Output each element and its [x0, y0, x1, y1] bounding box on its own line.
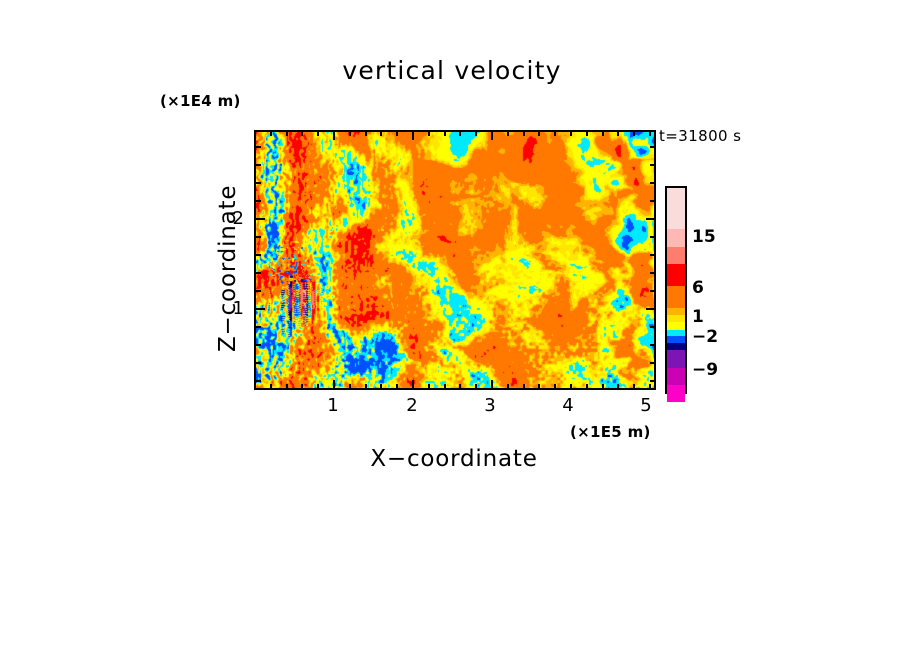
y-major-tick-right — [646, 218, 655, 220]
x-minor-tick — [523, 384, 525, 389]
colorbar — [665, 186, 687, 394]
x-minor-tick-top — [301, 131, 303, 136]
colorbar-band-4 — [667, 286, 685, 308]
x-minor-tick-top — [475, 131, 477, 136]
x-minor-tick — [554, 384, 556, 389]
x-minor-tick-top — [365, 131, 367, 136]
colorbar-band-2 — [667, 247, 685, 264]
x-minor-tick — [538, 384, 540, 389]
x-minor-tick — [633, 384, 635, 389]
x-minor-tick-top — [617, 131, 619, 136]
y-minor-tick — [256, 254, 261, 256]
y-minor-tick-right — [650, 272, 655, 274]
x-minor-tick-top — [270, 131, 272, 136]
y-minor-tick — [256, 164, 261, 166]
colorbar-label-2: 1 — [692, 307, 704, 327]
x-minor-tick — [444, 384, 446, 389]
colorbar-band-10 — [667, 343, 685, 350]
y-minor-tick-right — [650, 164, 655, 166]
x-minor-tick — [270, 384, 272, 389]
y-minor-tick-right — [650, 362, 655, 364]
y-minor-tick — [256, 272, 261, 274]
x-major-tick — [412, 380, 414, 389]
y-minor-tick-right — [650, 236, 655, 238]
colorbar-band-11 — [667, 350, 685, 368]
y-minor-tick-right — [650, 326, 655, 328]
x-minor-tick — [586, 384, 588, 389]
x-tick-label-0: 1 — [318, 395, 348, 416]
x-minor-tick — [570, 384, 572, 389]
contour-plot-area — [254, 130, 656, 390]
x-minor-tick-top — [633, 131, 635, 136]
x-minor-tick-top — [538, 131, 540, 136]
x-tick-label-1: 2 — [397, 395, 427, 416]
y-minor-tick — [256, 236, 261, 238]
y-minor-tick-right — [650, 200, 655, 202]
x-minor-tick — [317, 384, 319, 389]
y-axis-title: Z−coordinate — [215, 185, 241, 352]
x-minor-tick-top — [396, 131, 398, 136]
colorbar-label-4: −9 — [692, 360, 718, 380]
x-minor-tick-top — [428, 131, 430, 136]
y-major-tick — [256, 308, 265, 310]
x-minor-tick-top — [602, 131, 604, 136]
x-minor-tick — [649, 384, 651, 389]
x-minor-tick — [380, 384, 382, 389]
x-minor-tick — [365, 384, 367, 389]
x-major-tick-top — [333, 131, 335, 140]
colorbar-band-1 — [667, 229, 685, 247]
colorbar-band-9 — [667, 336, 685, 343]
x-minor-tick-top — [554, 131, 556, 136]
x-minor-tick-top — [317, 131, 319, 136]
y-minor-tick-right — [650, 344, 655, 346]
y-minor-tick — [256, 146, 261, 148]
y-minor-tick-right — [650, 182, 655, 184]
y-minor-tick — [256, 326, 261, 328]
colorbar-label-0: 15 — [692, 227, 716, 247]
x-axis-unit-label: (×1E5 m) — [570, 423, 651, 441]
y-minor-tick — [256, 290, 261, 292]
x-minor-tick-top — [586, 131, 588, 136]
colorbar-band-0 — [667, 188, 685, 229]
x-major-tick-top — [412, 131, 414, 140]
x-major-tick — [333, 380, 335, 389]
y-minor-tick-right — [650, 380, 655, 382]
x-minor-tick-top — [649, 131, 651, 136]
x-minor-tick-top — [380, 131, 382, 136]
x-minor-tick — [602, 384, 604, 389]
x-minor-tick — [507, 384, 509, 389]
x-minor-tick-top — [349, 131, 351, 136]
x-minor-tick — [301, 384, 303, 389]
page-title: vertical velocity — [0, 56, 904, 85]
y-minor-tick — [256, 182, 261, 184]
colorbar-band-13 — [667, 385, 685, 402]
x-minor-tick — [428, 384, 430, 389]
y-major-tick — [256, 218, 265, 220]
x-minor-tick — [396, 384, 398, 389]
vertical-velocity-field — [256, 132, 656, 390]
y-minor-tick — [256, 380, 261, 382]
x-minor-tick — [475, 384, 477, 389]
x-minor-tick-top — [459, 131, 461, 136]
x-tick-label-3: 4 — [553, 395, 583, 416]
x-minor-tick-top — [286, 131, 288, 136]
colorbar-band-5 — [667, 308, 685, 315]
x-major-tick — [491, 380, 493, 389]
x-minor-tick — [349, 384, 351, 389]
x-minor-tick — [459, 384, 461, 389]
timestamp-annotation: t=31800 s — [659, 127, 741, 145]
x-minor-tick-top — [444, 131, 446, 136]
x-minor-tick — [617, 384, 619, 389]
y-minor-tick-right — [650, 146, 655, 148]
colorbar-band-12 — [667, 368, 685, 385]
colorbar-label-1: 6 — [692, 278, 704, 298]
colorbar-band-6 — [667, 315, 685, 322]
x-minor-tick-top — [523, 131, 525, 136]
y-axis-unit-label: (×1E4 m) — [160, 92, 241, 110]
figure-canvas: vertical velocity (×1E4 m) (×1E5 m) t=31… — [0, 0, 904, 654]
x-minor-tick-top — [570, 131, 572, 136]
x-tick-label-2: 3 — [475, 395, 505, 416]
colorbar-band-3 — [667, 264, 685, 286]
y-minor-tick-right — [650, 254, 655, 256]
y-major-tick-right — [646, 308, 655, 310]
y-minor-tick — [256, 200, 261, 202]
x-tick-label-4: 5 — [631, 395, 661, 416]
x-major-tick-top — [491, 131, 493, 140]
colorbar-label-3: −2 — [692, 327, 718, 347]
x-minor-tick — [286, 384, 288, 389]
y-minor-tick — [256, 344, 261, 346]
x-axis-title: X−coordinate — [254, 446, 654, 472]
y-minor-tick-right — [650, 290, 655, 292]
x-minor-tick-top — [507, 131, 509, 136]
y-minor-tick — [256, 362, 261, 364]
colorbar-band-7 — [667, 322, 685, 330]
